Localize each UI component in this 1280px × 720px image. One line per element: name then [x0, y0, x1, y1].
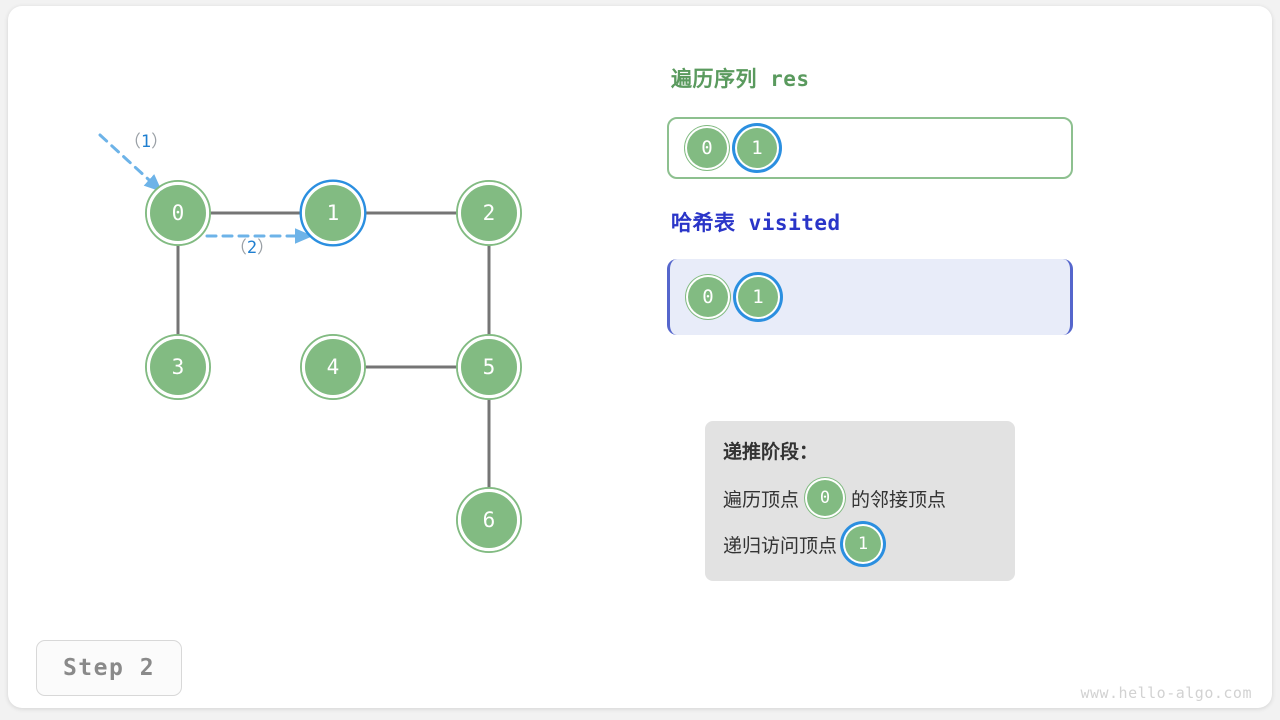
visited-list-box: 01 [667, 259, 1073, 335]
graph-node-0: 0 [146, 181, 210, 245]
phase-info-title: 递推阶段： [723, 437, 1015, 464]
graph-nodes: 0123456 [146, 181, 521, 552]
screenshot-root: 0123456 （1）（2） 遍历序列 res 01 哈希表 visited 0… [0, 0, 1280, 720]
graph-node-3: 3 [146, 335, 210, 399]
graph-node-1: 1 [301, 181, 365, 245]
arrow-2-label: （2） [230, 238, 274, 258]
phase-info-line-1-suffix: 的邻接顶点 [851, 485, 946, 512]
res-panel-title: 遍历序列 res [671, 63, 810, 93]
graph-node-2: 2 [457, 181, 521, 245]
res-item-1: 1 [737, 128, 777, 168]
graph-node-4: 4 [301, 335, 365, 399]
visited-item-1: 1 [738, 277, 778, 317]
graph-node-label: 3 [172, 355, 185, 379]
phase-info-line-1: 遍历顶点 0 的邻接顶点 [723, 480, 1015, 516]
phase-info-box: 递推阶段： 遍历顶点 0 的邻接顶点 递归访问顶点 1 [705, 421, 1015, 581]
visited-item-0: 0 [688, 277, 728, 317]
graph-node-label: 2 [483, 201, 496, 225]
graph-node-label: 4 [327, 355, 340, 379]
graph-node-label: 5 [483, 355, 496, 379]
phase-info-line-1-prefix: 遍历顶点 [723, 485, 799, 512]
phase-info-node-0: 0 [807, 480, 843, 516]
graph-node-label: 0 [172, 201, 185, 225]
visited-panel-title: 哈希表 visited [671, 207, 841, 237]
graph-node-label: 1 [327, 201, 340, 225]
graph-node-label: 6 [483, 508, 496, 532]
graph-node-5: 5 [457, 335, 521, 399]
phase-info-line-2: 递归访问顶点 1 [723, 526, 1015, 562]
res-list-box: 01 [667, 117, 1073, 179]
arrow-1-label: （1） [124, 132, 168, 152]
res-item-0: 0 [687, 128, 727, 168]
graph-diagram: 0123456 （1）（2） [0, 0, 640, 720]
step-badge: Step 2 [36, 640, 182, 696]
watermark: www.hello-algo.com [1080, 684, 1252, 702]
phase-info-node-1: 1 [845, 526, 881, 562]
graph-node-6: 6 [457, 488, 521, 552]
phase-info-line-2-prefix: 递归访问顶点 [723, 531, 837, 558]
